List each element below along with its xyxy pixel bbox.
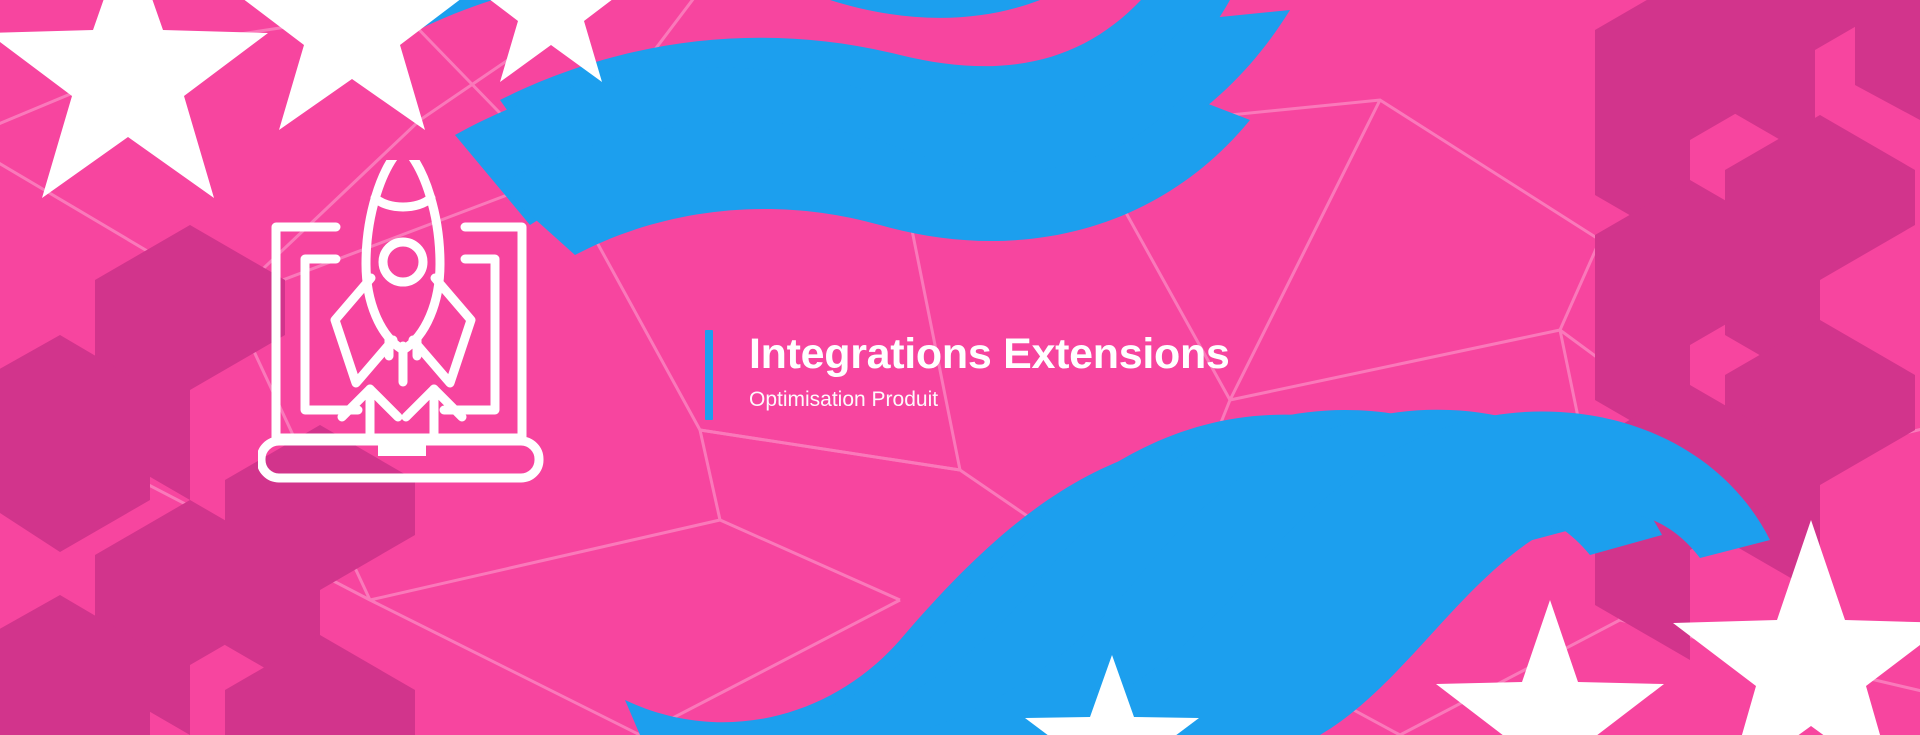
banner-content: Integrations Extensions Optimisation Pro… [0,0,1920,735]
hero-banner: Integrations Extensions Optimisation Pro… [0,0,1920,735]
rocket-nose-divider [375,198,431,207]
laptop-bracket-left-inner [305,259,358,410]
rocket-body [366,160,440,350]
page-subtitle: Optimisation Produit [749,387,1230,412]
page-title: Integrations Extensions [749,331,1230,377]
banner-text-block: Integrations Extensions Optimisation Pro… [705,330,1230,420]
rocket-porthole [383,242,423,282]
accent-bar [705,330,713,420]
text-stack: Integrations Extensions Optimisation Pro… [749,330,1230,420]
laptop-trackpad [378,441,426,456]
rocket-launch-laptop-icon [258,160,548,520]
